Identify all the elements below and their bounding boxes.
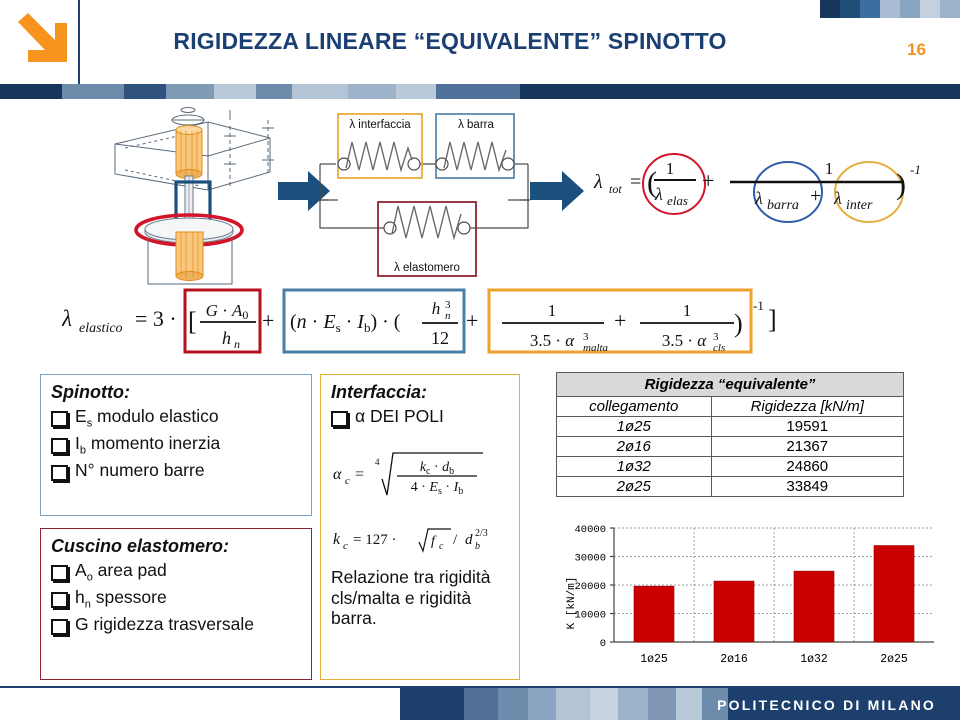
svg-text:α: α bbox=[333, 466, 342, 483]
svg-text:tot: tot bbox=[609, 182, 622, 196]
svg-text:+: + bbox=[810, 185, 821, 207]
svg-text:h: h bbox=[432, 299, 441, 318]
rigidezza-table: Rigidezza “equivalente” collegamento Rig… bbox=[556, 372, 904, 497]
list-item-desc: spessore bbox=[91, 587, 167, 607]
svg-text:3.5 · α: 3.5 · α bbox=[662, 331, 707, 350]
svg-text:2/3: 2/3 bbox=[475, 528, 488, 539]
symbol: N° bbox=[75, 460, 95, 480]
box-title-cuscino: Cuscino elastomero: bbox=[51, 536, 311, 557]
orange-down-right-arrow-icon bbox=[8, 10, 70, 72]
checkbox-bullet-icon bbox=[51, 411, 68, 427]
interfaccia-paragraph: Relazione tra rigidità cls/malta e rigid… bbox=[331, 567, 519, 628]
list-item-text: Es modulo elastico bbox=[75, 406, 219, 431]
chart-y-tick: 0 bbox=[600, 638, 606, 650]
svg-text:1: 1 bbox=[683, 301, 692, 320]
svg-text:-1: -1 bbox=[753, 298, 764, 313]
slide-footer: POLITECNICO DI MILANO bbox=[0, 680, 960, 720]
spring-network-diagram: λ interfaccia λ barra λ elastomero bbox=[318, 108, 533, 280]
svg-text:G · A0: G · A0 bbox=[206, 301, 249, 322]
svg-text:malta: malta bbox=[583, 342, 609, 354]
svg-text:1: 1 bbox=[548, 301, 557, 320]
svg-text:=: = bbox=[630, 171, 641, 193]
table-row: 1ø32 24860 bbox=[557, 457, 904, 477]
chart-bar bbox=[874, 546, 914, 642]
svg-text:λ elastomero: λ elastomero bbox=[394, 262, 460, 274]
svg-text:4: 4 bbox=[375, 457, 380, 467]
kc-formula: k c = 127 · f c / d b 2/3 bbox=[333, 520, 508, 556]
cell-rigidezza: 21367 bbox=[711, 437, 904, 457]
cell-collegamento: 1ø25 bbox=[557, 417, 712, 437]
chart-y-tick: 10000 bbox=[574, 610, 606, 622]
circle-highlight-inter bbox=[835, 162, 903, 222]
alpha-c-formula: α c = 4 kc · db 4 · Es · Ib bbox=[333, 443, 505, 505]
list-item: Ib momento inerzia bbox=[51, 433, 311, 458]
list-item-text: α DEI POLI bbox=[355, 406, 444, 427]
list-item-text: Ib momento inerzia bbox=[75, 433, 220, 458]
chart-bar bbox=[714, 581, 754, 642]
checkbox-bullet-icon bbox=[51, 465, 68, 481]
footer-brand-text: POLITECNICO DI MILANO bbox=[717, 697, 936, 713]
svg-text:λ barra: λ barra bbox=[458, 119, 494, 131]
svg-text:h: h bbox=[222, 328, 231, 348]
chart-bar bbox=[794, 571, 834, 642]
list-item-desc: numero barre bbox=[95, 460, 205, 480]
svg-text:λ: λ bbox=[62, 306, 72, 331]
column-header-collegamento: collegamento bbox=[557, 397, 712, 417]
svg-text:kc · db: kc · db bbox=[420, 460, 454, 477]
info-box-interfaccia: Interfaccia: α DEI POLI α c = 4 kc · db … bbox=[320, 374, 520, 680]
svg-text:n: n bbox=[234, 337, 240, 351]
cell-rigidezza: 19591 bbox=[711, 417, 904, 437]
chart-y-axis-label: K [kN/m] bbox=[566, 577, 578, 630]
spinotto-connection-drawing bbox=[90, 98, 305, 288]
svg-text:λ interfaccia: λ interfaccia bbox=[349, 119, 411, 131]
svg-text:elas: elas bbox=[667, 193, 688, 208]
lambda-tot-formula: λ tot = ( 1 λ elas + 1 λ barra + λ inter… bbox=[592, 140, 952, 232]
chart-x-tick-labels: 1ø252ø161ø322ø25 bbox=[640, 653, 908, 666]
chart-y-tick: 40000 bbox=[574, 524, 606, 536]
svg-text:cls: cls bbox=[713, 342, 725, 354]
symbol: G bbox=[75, 614, 89, 634]
checkbox-bullet-icon bbox=[51, 619, 68, 635]
chart-x-tick: 1ø32 bbox=[800, 653, 828, 666]
svg-text:barra: barra bbox=[767, 198, 799, 213]
svg-text:): ) bbox=[734, 309, 743, 338]
chart-y-tick: 30000 bbox=[574, 553, 606, 565]
table-header-row: collegamento Rigidezza [kN/m] bbox=[557, 397, 904, 417]
chart-x-tick: 2ø25 bbox=[880, 653, 908, 666]
svg-text:3.5 · α: 3.5 · α bbox=[530, 331, 575, 350]
list-item-desc: momento inerzia bbox=[86, 433, 220, 453]
svg-text:-1: -1 bbox=[910, 162, 921, 177]
svg-text:c: c bbox=[343, 540, 348, 552]
cell-collegamento: 1ø32 bbox=[557, 457, 712, 477]
svg-text:=: = bbox=[355, 466, 364, 483]
list-item: Es modulo elastico bbox=[51, 406, 311, 431]
info-box-cuscino-elastomero: Cuscino elastomero: Ao area pad hn spess… bbox=[40, 528, 312, 680]
list-item-desc: rigidezza trasversale bbox=[89, 614, 254, 634]
svg-text:= 127 ·: = 127 · bbox=[353, 532, 396, 548]
list-item: N° numero barre bbox=[51, 460, 311, 481]
svg-text:12: 12 bbox=[431, 328, 449, 348]
box-title-interfaccia: Interfaccia: bbox=[331, 382, 519, 403]
svg-text:n: n bbox=[445, 310, 451, 322]
list-item-text: Ao area pad bbox=[75, 560, 167, 585]
table-title: Rigidezza “equivalente” bbox=[557, 373, 904, 397]
header-decoration-strip bbox=[820, 0, 960, 18]
chart-y-tick: 20000 bbox=[574, 581, 606, 593]
svg-text:b: b bbox=[475, 541, 480, 552]
chart-x-tick: 2ø16 bbox=[720, 653, 748, 666]
column-header-rigidezza: Rigidezza [kN/m] bbox=[711, 397, 904, 417]
svg-text:c: c bbox=[439, 541, 444, 552]
svg-text:): ) bbox=[896, 168, 906, 201]
list-item: G rigidezza trasversale bbox=[51, 614, 311, 635]
svg-text:f: f bbox=[431, 534, 437, 549]
svg-text:= 3 ·: = 3 · bbox=[135, 306, 177, 331]
table-row: 1ø25 19591 bbox=[557, 417, 904, 437]
svg-text:[: [ bbox=[188, 307, 197, 336]
list-item: α DEI POLI bbox=[331, 406, 519, 427]
flow-arrow-2-icon bbox=[528, 168, 586, 214]
svg-text:+: + bbox=[614, 308, 626, 333]
checkbox-bullet-icon bbox=[51, 592, 68, 608]
svg-text:(n · Es · Ib) · (: (n · Es · Ib) · ( bbox=[290, 311, 401, 335]
chart-y-tick-labels: 010000200003000040000 bbox=[574, 524, 606, 650]
svg-text:k: k bbox=[333, 531, 341, 548]
svg-text:elastico: elastico bbox=[79, 321, 123, 336]
svg-text:/: / bbox=[453, 532, 458, 548]
table-row: 2ø16 21367 bbox=[557, 437, 904, 457]
box-title-spinotto: Spinotto: bbox=[51, 382, 311, 403]
slide-header: RIGIDEZZA LINEARE “EQUIVALENTE” SPINOTTO… bbox=[0, 0, 960, 86]
list-item-desc: area pad bbox=[93, 560, 167, 580]
svg-text:+: + bbox=[702, 168, 714, 193]
svg-text:1: 1 bbox=[666, 159, 675, 178]
svg-text:c: c bbox=[345, 475, 350, 487]
svg-text:λ: λ bbox=[654, 184, 663, 204]
cell-rigidezza: 24860 bbox=[711, 457, 904, 477]
svg-text:λ: λ bbox=[754, 188, 763, 208]
table-title-row: Rigidezza “equivalente” bbox=[557, 373, 904, 397]
svg-text:+: + bbox=[466, 308, 478, 333]
svg-text:+: + bbox=[262, 308, 274, 333]
svg-text:λ: λ bbox=[593, 171, 603, 193]
svg-text:inter: inter bbox=[846, 198, 873, 213]
list-item-text: N° numero barre bbox=[75, 460, 205, 481]
cell-collegamento: 2ø16 bbox=[557, 437, 712, 457]
cell-rigidezza: 33849 bbox=[711, 477, 904, 497]
checkbox-bullet-icon bbox=[331, 411, 348, 427]
list-item-desc: modulo elastico bbox=[92, 406, 218, 426]
svg-text:]: ] bbox=[768, 305, 777, 334]
header-divider bbox=[78, 0, 80, 86]
list-item-text: hn spessore bbox=[75, 587, 167, 612]
list-item: Ao area pad bbox=[51, 560, 311, 585]
list-item: hn spessore bbox=[51, 587, 311, 612]
svg-text:λ: λ bbox=[833, 188, 842, 208]
rigidezza-bar-chart: 010000200003000040000 1ø252ø161ø322ø25 K… bbox=[556, 518, 946, 686]
table-row: 2ø25 33849 bbox=[557, 477, 904, 497]
svg-text:1: 1 bbox=[825, 159, 834, 178]
svg-text:4 · Es · Ib: 4 · Es · Ib bbox=[411, 480, 463, 497]
checkbox-bullet-icon bbox=[51, 565, 68, 581]
checkbox-bullet-icon bbox=[51, 438, 68, 454]
chart-bar bbox=[634, 586, 674, 642]
svg-text:d: d bbox=[465, 532, 473, 548]
header-accent-bar bbox=[0, 84, 960, 99]
page-number: 16 bbox=[907, 40, 926, 60]
list-item-text: G rigidezza trasversale bbox=[75, 614, 254, 635]
lambda-elastico-formula: λ elastico = 3 · [ G · A0 h n + (n · Es … bbox=[62, 278, 802, 362]
cell-collegamento: 2ø25 bbox=[557, 477, 712, 497]
info-box-spinotto: Spinotto: Es modulo elastico Ib momento … bbox=[40, 374, 312, 516]
chart-x-tick: 1ø25 bbox=[640, 653, 668, 666]
page-title: RIGIDEZZA LINEARE “EQUIVALENTE” SPINOTTO bbox=[100, 28, 800, 55]
